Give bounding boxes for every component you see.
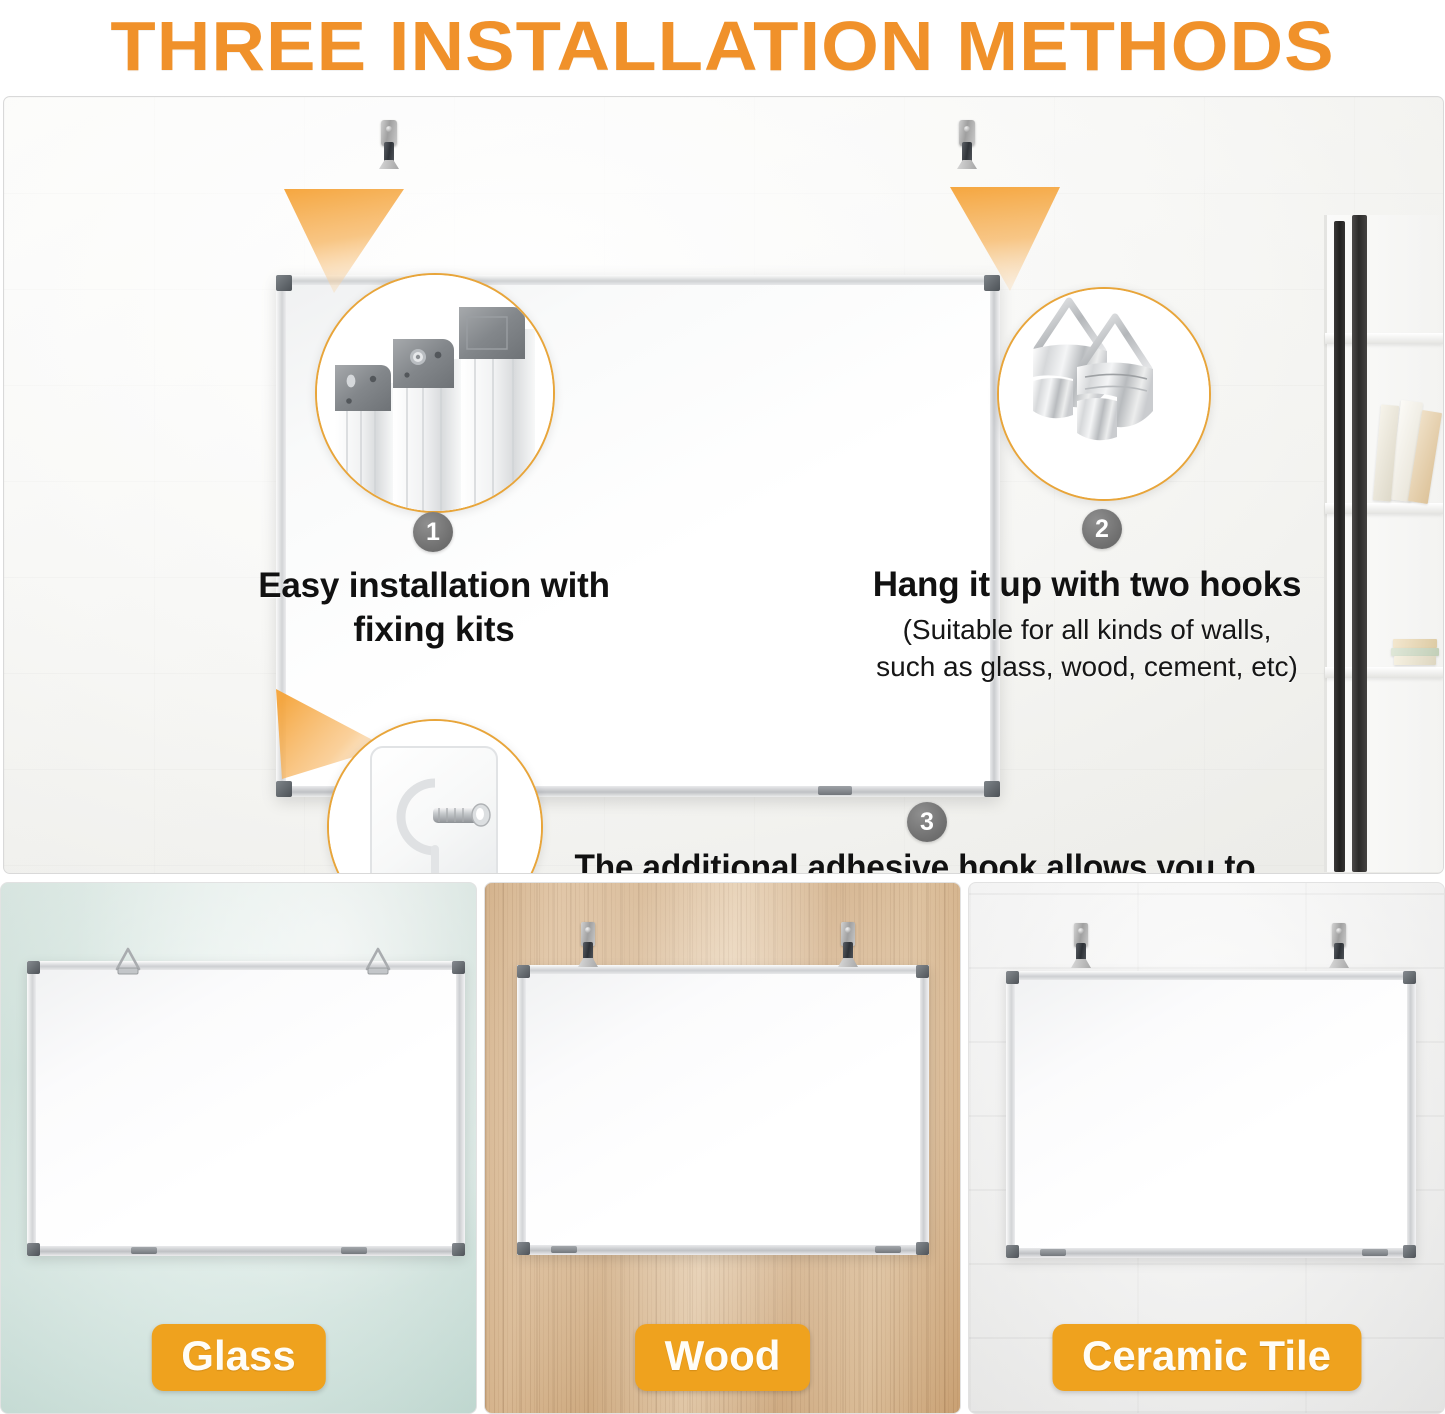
zoom-circle-fixing-kits [315, 273, 555, 513]
book [1393, 639, 1437, 648]
frame-corner-cap [452, 961, 465, 974]
frame-corner-cap [1006, 1245, 1019, 1258]
frame-rail-right [1407, 971, 1416, 1258]
callout-2-sub1: (Suitable for all kinds of walls, [847, 611, 1327, 648]
material-panel-glass[interactable]: Glass [0, 882, 477, 1414]
screw-icon [1078, 928, 1084, 934]
callout-1-line2: fixing kits [222, 608, 646, 652]
callout-2-sub2: such as glass, wood, cement, etc) [847, 648, 1327, 685]
wall-hook-left [578, 922, 598, 968]
frame-rail-right [990, 275, 1000, 797]
triangle-hook-right [365, 947, 391, 975]
fixing-kit-brackets-icon [317, 275, 553, 511]
callout-2: Hang it up with two hooks (Suitable for … [847, 563, 1327, 685]
ladder-rail-front [1352, 215, 1367, 872]
hook-lip [957, 160, 977, 169]
material-panels: Glass Wood [0, 882, 1445, 1414]
frame-rail-left [517, 965, 526, 1255]
frame-corner-cap [916, 1242, 929, 1255]
page-title: THREE INSTALLATION METHODS [110, 11, 1334, 81]
frame-corner-cap [1006, 971, 1019, 984]
page-header: THREE INSTALLATION METHODS [0, 0, 1445, 92]
hook-lip [578, 958, 598, 967]
frame-rail-left [27, 961, 36, 1256]
whiteboard-on-glass [27, 961, 465, 1256]
material-panel-wood[interactable]: Wood [484, 882, 961, 1414]
triangle-hanging-hooks-icon [999, 289, 1209, 499]
frame-clip [1040, 1249, 1066, 1256]
hook-lip [379, 160, 399, 169]
frame-corner-cap [517, 965, 530, 978]
zoom-wedge-1 [278, 177, 408, 297]
screw-icon [1336, 928, 1342, 934]
material-label-ceramic-tile: Ceramic Tile [1052, 1324, 1361, 1391]
step-badge-2: 2 [1082, 509, 1122, 549]
whiteboard-on-ceramic-tile [1006, 971, 1416, 1258]
book [1394, 656, 1436, 665]
frame-rail-bottom [27, 1246, 465, 1256]
wall-hook-left [1071, 923, 1091, 969]
wall-hook-left [378, 120, 400, 170]
frame-corner-cap [1403, 971, 1416, 984]
material-label-wood: Wood [635, 1324, 811, 1391]
callout-3-line1: The additional adhesive hook allows you … [566, 846, 1263, 874]
screw-icon [845, 927, 851, 933]
frame-corner-cap [27, 1243, 40, 1256]
whiteboard-surface [526, 974, 920, 1245]
wall-hook-right [956, 120, 978, 170]
whiteboard-on-wood [517, 965, 929, 1255]
frame-rail-bottom [517, 1245, 929, 1255]
frame-corner-cap [452, 1243, 465, 1256]
frame-rail-right [920, 965, 929, 1255]
hook-lip [1071, 959, 1091, 968]
frame-corner-cap [27, 961, 40, 974]
callout-2-line1: Hang it up with two hooks [847, 563, 1327, 607]
frame-corner-cap [984, 781, 1000, 797]
step-badge-1: 1 [413, 512, 453, 552]
hook-lip [1329, 959, 1349, 968]
whiteboard-surface [1015, 980, 1407, 1248]
whiteboard-surface [36, 970, 456, 1246]
frame-rail-right [456, 961, 465, 1256]
ladder-shelf [1293, 215, 1443, 872]
frame-clip [818, 786, 852, 795]
screw-icon [964, 126, 970, 132]
frame-rail-left [1006, 971, 1015, 1258]
zoom-wedge-2 [948, 177, 1068, 295]
material-label-glass: Glass [151, 1324, 325, 1391]
frame-clip [551, 1246, 577, 1253]
callout-1: Easy installation with fixing kits [222, 564, 646, 652]
hook-lip [838, 958, 858, 967]
frame-clip [1362, 1249, 1388, 1256]
wall-hook-right [838, 922, 858, 968]
wall-hook-right [1329, 923, 1349, 969]
frame-clip [875, 1246, 901, 1253]
callout-3: The additional adhesive hook allows you … [550, 846, 1280, 874]
callout-1-line1: Easy installation with [222, 564, 646, 608]
frame-rail-top [1006, 971, 1416, 980]
ladder-rail-back [1334, 221, 1345, 872]
frame-corner-cap [517, 1242, 530, 1255]
shelf-side-panel [1324, 215, 1327, 872]
frame-clip [341, 1247, 367, 1254]
book [1391, 648, 1439, 656]
triangle-hook-left [115, 947, 141, 975]
frame-corner-cap [916, 965, 929, 978]
step-badge-3: 3 [907, 802, 947, 842]
frame-corner-cap [1403, 1245, 1416, 1258]
frame-rail-bottom [1006, 1248, 1416, 1258]
hero-installation-panel: 1 2 3 Easy installation with fixing kits… [3, 96, 1444, 874]
screw-icon [386, 126, 392, 132]
material-panel-ceramic-tile[interactable]: Ceramic Tile [968, 882, 1445, 1414]
frame-clip [131, 1247, 157, 1254]
frame-rail-top [27, 961, 465, 970]
zoom-circle-hanging-hooks [997, 287, 1211, 501]
screw-icon [585, 927, 591, 933]
